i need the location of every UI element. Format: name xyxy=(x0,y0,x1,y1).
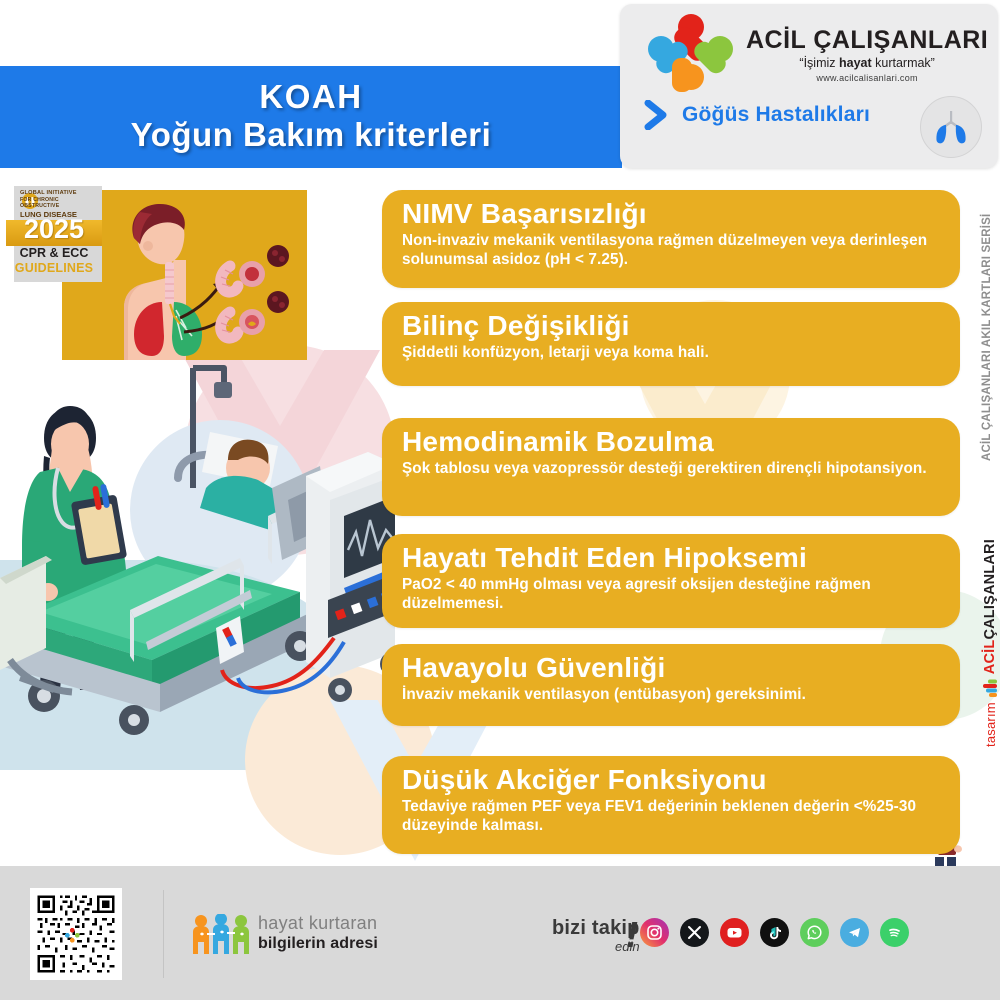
rail-credit: tasarım ACİL ÇALIŞANLARI xyxy=(982,553,998,733)
criteria-card[interactable]: NIMV Başarısızlığı Non-invaziv mekanik v… xyxy=(382,190,960,288)
slogan-close: kurtarmak” xyxy=(872,56,935,70)
criteria-card[interactable]: Hemodinamik Bozulma Şok tablosu veya vaz… xyxy=(382,418,960,516)
department-label: Göğüs Hastalıkları xyxy=(682,103,870,127)
slogan-bold: hayat xyxy=(839,56,872,70)
social-links xyxy=(640,918,909,947)
criteria-card-title: Düşük Akciğer Fonksiyonu xyxy=(402,765,940,795)
mini-logo-icon xyxy=(983,679,998,697)
x-twitter-icon[interactable] xyxy=(680,918,709,947)
follow-us-label: bizi takip edin ! xyxy=(552,918,640,953)
gold-2025-badge: GLOBAL INITIATIVE FOR CHRONIC OBSTRUCTIV… xyxy=(6,186,102,282)
chevron-right-icon xyxy=(644,100,670,130)
qr-code[interactable] xyxy=(30,888,122,980)
criteria-card-desc: Non-invaziv mekanik ventilasyona rağmen … xyxy=(402,231,940,270)
criteria-card-desc: Tedaviye rağmen PEF veya FEV1 değerinin … xyxy=(402,797,940,836)
brand-text-block: ACİL ÇALIŞANLARI “İşimiz hayat kurtarmak… xyxy=(746,28,988,83)
criteria-card-desc: Şiddetli konfüzyon, letarji veya koma ha… xyxy=(402,343,940,362)
hayat-kurtaran-line2: bilgilerin adresi xyxy=(258,934,378,953)
three-people-icon xyxy=(190,914,252,956)
acil-calisanlari-logo-icon xyxy=(648,14,736,96)
tiktok-icon[interactable] xyxy=(760,918,789,947)
criteria-card[interactable]: Havayolu Güvenliği İnvaziv mekanik venti… xyxy=(382,644,960,726)
whatsapp-icon[interactable] xyxy=(800,918,829,947)
hayat-kurtaran-line1: hayat kurtaran xyxy=(258,913,378,934)
telegram-icon[interactable] xyxy=(840,918,869,947)
youtube-icon[interactable] xyxy=(720,918,749,947)
badge-guidelines-label: GUIDELINES xyxy=(6,261,102,275)
criteria-card[interactable]: Bilinç Değişikliği Şiddetli konfüzyon, l… xyxy=(382,302,960,386)
instagram-icon[interactable] xyxy=(640,918,669,947)
rail-series-label: ACİL ÇALIŞANLARI AKIL KARTLARI SERİSİ xyxy=(981,231,993,461)
right-side-rail: ACİL ÇALIŞANLARI AKIL KARTLARI SERİSİ ta… xyxy=(960,180,1000,870)
criteria-card[interactable]: Hayatı Tehdit Eden Hipoksemi PaO2 < 40 m… xyxy=(382,534,960,628)
criteria-card-desc: Şok tablosu veya vazopressör desteği ger… xyxy=(402,459,940,478)
badge-year: 2025 xyxy=(6,214,102,245)
hayat-kurtaran-text: hayat kurtaran bilgilerin adresi xyxy=(258,913,378,953)
brand-url: www.acilcalisanlari.com xyxy=(746,73,988,83)
criteria-card[interactable]: Düşük Akciğer Fonksiyonu Tedaviye rağmen… xyxy=(382,756,960,854)
rail-brand-red: ACİL xyxy=(982,640,998,675)
brand-name: ACİL ÇALIŞANLARI xyxy=(746,28,988,53)
rail-brand-dark: ÇALIŞANLARI xyxy=(982,539,998,639)
lungs-badge xyxy=(920,96,982,158)
criteria-card-title: NIMV Başarısızlığı xyxy=(402,199,940,229)
icu-scene-illustration xyxy=(0,360,395,780)
criteria-card-title: Havayolu Güvenliği xyxy=(402,653,940,683)
follow-exclamation: ! xyxy=(626,914,638,956)
footer-divider xyxy=(163,890,164,978)
page-title-line2: Yoğun Bakım kriterleri xyxy=(131,116,492,154)
slogan-open: “İşimiz xyxy=(799,56,839,70)
criteria-card-title: Hemodinamik Bozulma xyxy=(402,427,940,457)
rail-tasarim-label: tasarım xyxy=(983,702,998,747)
brand-logo-card: ACİL ÇALIŞANLARI “İşimiz hayat kurtarmak… xyxy=(620,4,998,168)
lungs-icon xyxy=(930,106,972,148)
criteria-card-desc: PaO2 < 40 mmHg olması veya agresif oksij… xyxy=(402,575,940,614)
criteria-card-desc: İnvaziv mekanik ventilasyon (entübasyon)… xyxy=(402,685,940,704)
brand-slogan: “İşimiz hayat kurtarmak” xyxy=(746,56,988,70)
badge-cpr-label: CPR & ECC xyxy=(6,246,102,260)
criteria-card-title: Hayatı Tehdit Eden Hipoksemi xyxy=(402,543,940,573)
page-title-line1: KOAH xyxy=(259,80,362,115)
brand-logo-top: ACİL ÇALIŞANLARI “İşimiz hayat kurtarmak… xyxy=(620,4,998,96)
spotify-icon[interactable] xyxy=(880,918,909,947)
badge-line2: FOR CHRONIC OBSTRUCTIVE xyxy=(20,197,98,210)
badge-line1: GLOBAL INITIATIVE xyxy=(20,190,98,197)
criteria-card-title: Bilinç Değişikliği xyxy=(402,311,940,341)
title-banner: KOAH Yoğun Bakım kriterleri xyxy=(0,66,622,168)
